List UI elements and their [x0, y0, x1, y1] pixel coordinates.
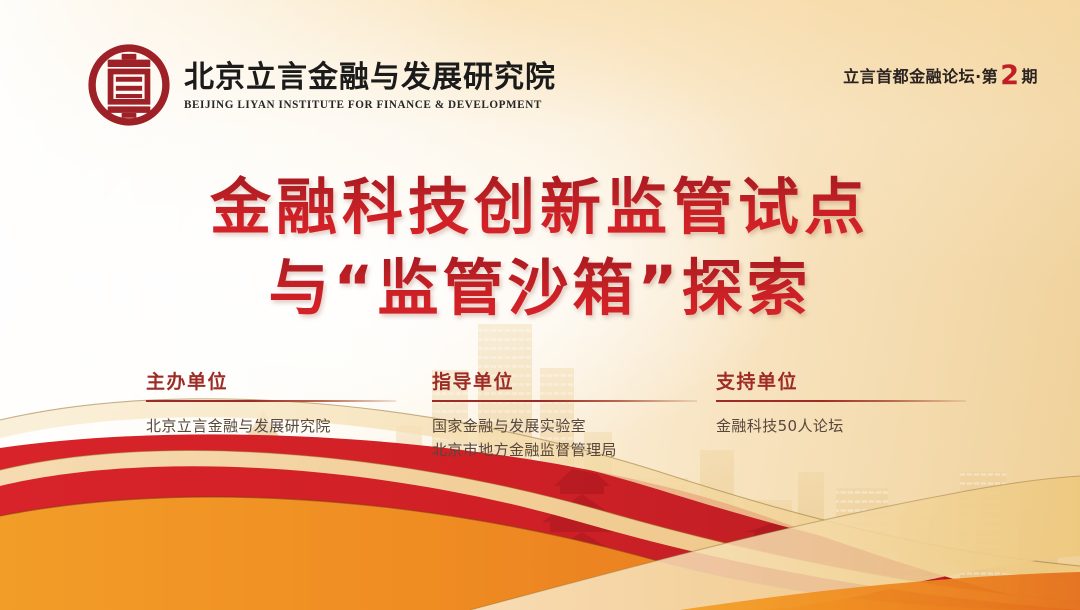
forum-issue-label: 立言首都金融论坛·第 2 期	[843, 62, 1038, 87]
main-title: 金融科技创新监管试点 与“监管沙箱”探索	[0, 168, 1080, 329]
organizer-column-support: 支持单位 金融科技50人论坛	[716, 372, 966, 438]
ribbon-decoration	[0, 320, 1080, 610]
banner-stage: 北京立言金融与发展研究院 BEIJING LIYAN INSTITUTE FOR…	[0, 0, 1080, 610]
issue-suffix: 期	[1021, 63, 1038, 87]
organizer-item: 国家金融与发展实验室	[432, 414, 697, 438]
organizer-divider-host	[146, 400, 396, 402]
organizer-label-host: 主办单位	[146, 372, 396, 393]
institute-logo: 北京立言金融与发展研究院 BEIJING LIYAN INSTITUTE FOR…	[88, 44, 556, 126]
organizer-list-guidance: 国家金融与发展实验室 北京市地方金融监督管理局	[432, 414, 697, 463]
organizer-item: 北京市地方金融监督管理局	[432, 438, 697, 462]
circular-seal-icon	[88, 44, 170, 126]
organizer-divider-guidance	[432, 400, 697, 402]
organizer-label-guidance: 指导单位	[432, 372, 697, 393]
organizer-item: 北京立言金融与发展研究院	[146, 414, 396, 438]
organizer-item: 金融科技50人论坛	[716, 414, 966, 438]
organizer-label-support: 支持单位	[716, 372, 966, 393]
issue-prefix: 立言首都金融论坛·第	[843, 63, 998, 87]
institute-name-cn: 北京立言金融与发展研究院	[184, 61, 556, 95]
title-line-1: 金融科技创新监管试点	[0, 168, 1080, 249]
title-line-2: 与“监管沙箱”探索	[0, 249, 1080, 330]
organizer-list-host: 北京立言金融与发展研究院	[146, 414, 396, 438]
organizer-column-host: 主办单位 北京立言金融与发展研究院	[146, 372, 396, 438]
institute-name-en: BEIJING LIYAN INSTITUTE FOR FINANCE & DE…	[184, 99, 545, 111]
issue-number: 2	[998, 64, 1021, 88]
institute-name-block: 北京立言金融与发展研究院 BEIJING LIYAN INSTITUTE FOR…	[184, 59, 556, 111]
organizer-column-guidance: 指导单位 国家金融与发展实验室 北京市地方金融监督管理局	[432, 372, 697, 462]
organizer-divider-support	[716, 400, 966, 402]
organizer-list-support: 金融科技50人论坛	[716, 414, 966, 438]
banner-header: 北京立言金融与发展研究院 BEIJING LIYAN INSTITUTE FOR…	[0, 0, 1080, 150]
